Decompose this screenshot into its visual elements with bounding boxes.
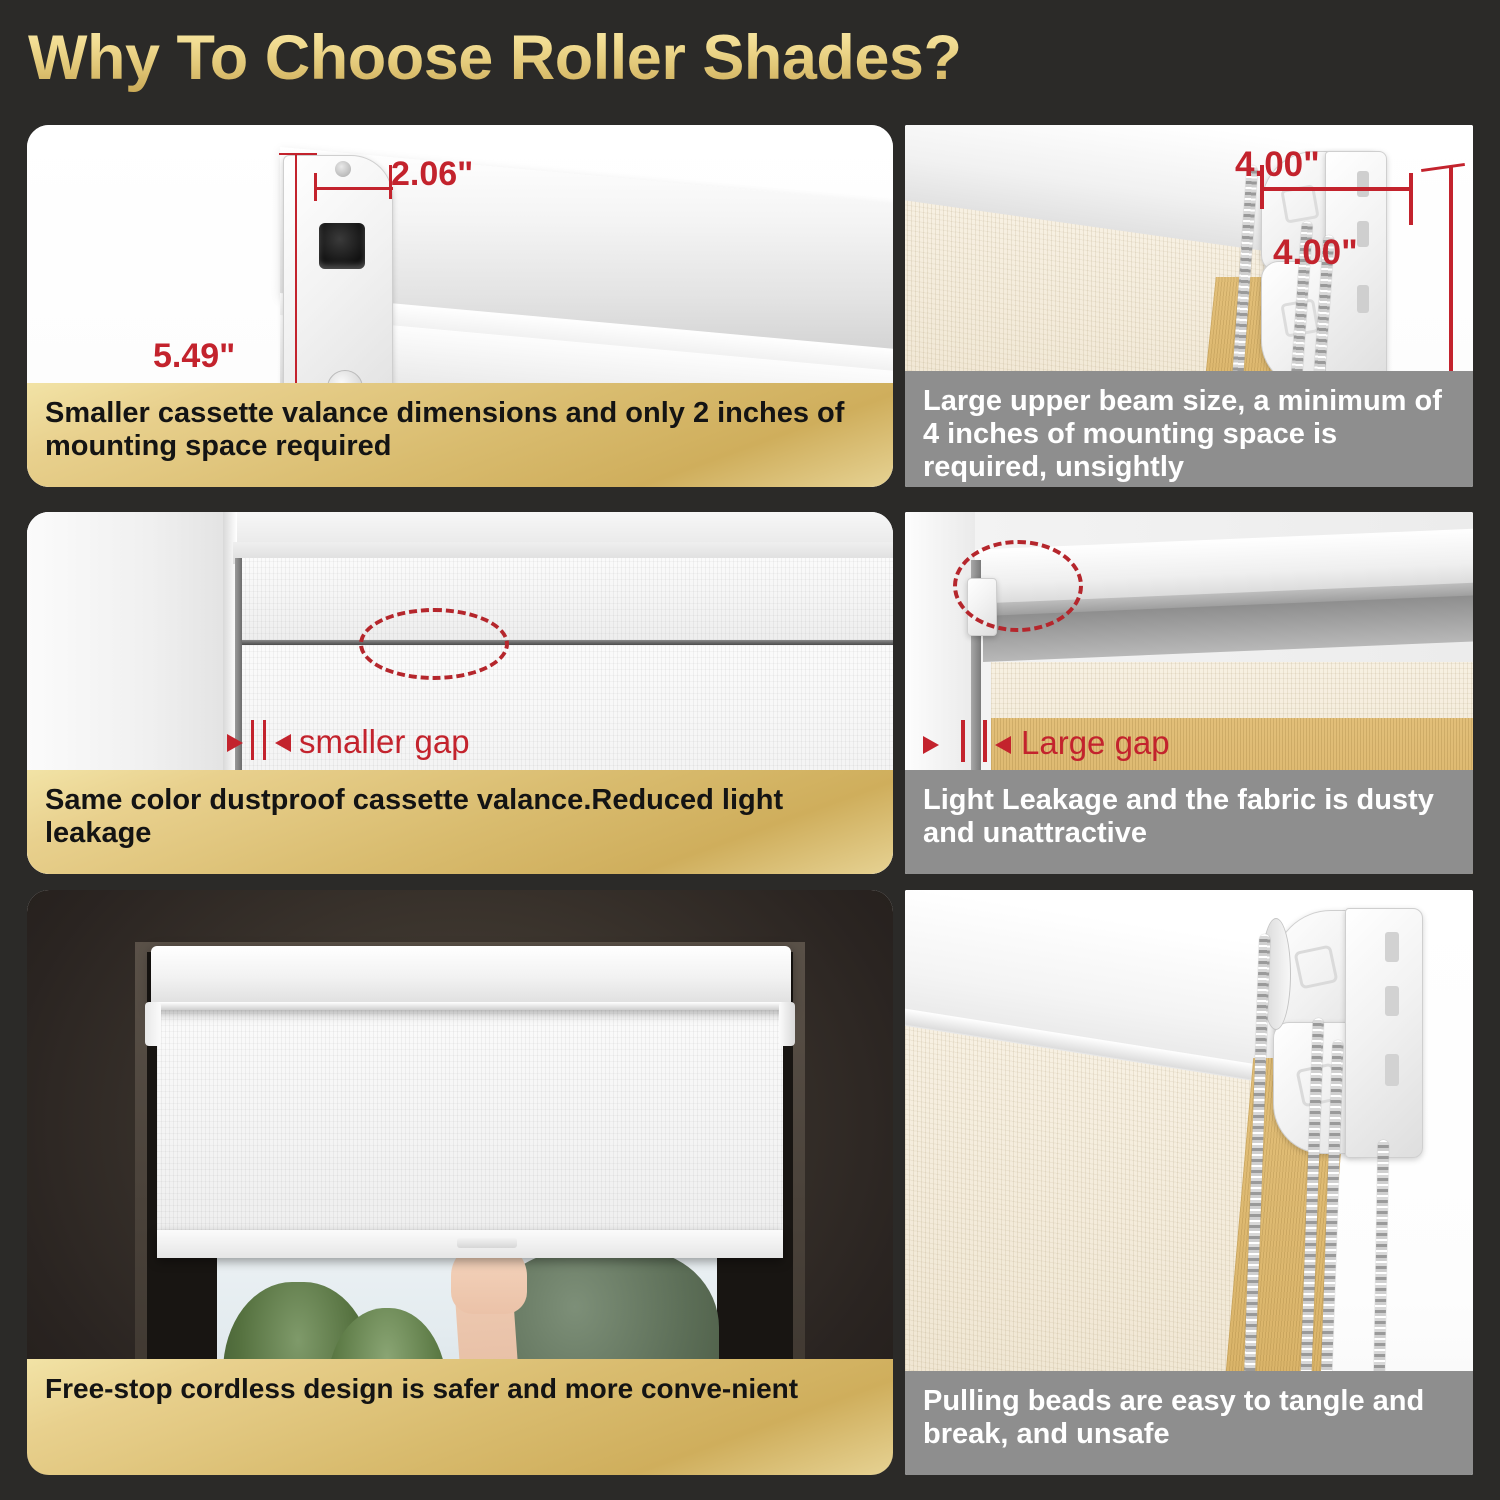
caption-smaller-cassette-valance: Smaller cassette valance dimensions and …	[27, 383, 893, 487]
caption-free-stop-cordless: Free-stop cordless design is safer and m…	[27, 1359, 893, 1475]
large-gap-label: Large gap	[1021, 726, 1170, 759]
bracket-notch-2-icon	[1357, 221, 1369, 247]
bracket-mount-plate	[1345, 908, 1423, 1158]
bracket-notch-1-icon	[1385, 932, 1399, 962]
caption-dustproof-cassette-valance: Same color dustproof cassette valance.Re…	[27, 770, 893, 874]
gap-tick-a	[961, 720, 965, 762]
page-title: Why To Choose Roller Shades?	[28, 22, 1068, 94]
smaller-gap-label: smaller gap	[299, 725, 470, 758]
valance-left-cap	[145, 1002, 161, 1046]
beam-height-label: 4.00"	[1273, 235, 1358, 270]
beam-width-label: 4.00"	[1235, 147, 1320, 182]
valance-right-cap	[779, 1002, 795, 1046]
gap-highlight-ellipse	[359, 608, 509, 680]
bracket-notch-2-icon	[1385, 986, 1399, 1016]
height-dim-tick-top	[279, 153, 317, 155]
gap-arrow-left-icon	[923, 736, 939, 754]
gap-arrow-right-icon	[995, 736, 1011, 754]
bracket-slot-icon	[319, 223, 365, 269]
gap-arrow-right-icon	[275, 734, 291, 752]
width-dimension-label: 2.06"	[391, 157, 473, 191]
bracket-notch-3-icon	[1385, 1054, 1399, 1086]
caption-light-leakage: Light Leakage and the fabric is dusty an…	[905, 770, 1473, 874]
caption-pulling-beads: Pulling beads are easy to tangle and bre…	[905, 1371, 1473, 1475]
panel-free-stop-cordless: Free-stop cordless design is safer and m…	[27, 890, 893, 1475]
gap-arrow-left-icon	[227, 734, 243, 752]
panel-dustproof-cassette-valance: smaller gap Same color dustproof cassett…	[27, 512, 893, 874]
panel-light-leakage: Large gap Light Leakage and the fabric i…	[905, 512, 1473, 874]
width-dimension-line	[315, 187, 393, 190]
height-dimension-label: 5.49"	[153, 339, 235, 373]
bracket-screw-top-icon	[335, 161, 351, 177]
valance-lip	[151, 1002, 791, 1010]
bracket-notch-1-icon	[1357, 171, 1369, 197]
beam-width-tick-right	[1409, 173, 1413, 225]
panel-large-upper-beam: 4.00" 4.00" Large upper beam size, a min…	[905, 125, 1473, 487]
bracket-notch-3-icon	[1357, 285, 1369, 313]
caption-large-upper-beam: Large upper beam size, a minimum of 4 in…	[905, 371, 1473, 487]
width-dim-tick-left	[314, 173, 317, 201]
bottom-rail-grip	[457, 1238, 517, 1248]
beam-width-line	[1261, 187, 1413, 191]
panel-smaller-cassette-valance: 5.49" 2.06" Smaller cassette valance dim…	[27, 125, 893, 487]
gap-tick-b	[263, 720, 266, 760]
gap-highlight-ellipse	[953, 540, 1083, 632]
cassette-valance-head	[151, 946, 791, 1008]
bracket-emblem-top-icon	[1293, 944, 1338, 989]
panel-pulling-beads: Pulling beads are easy to tangle and bre…	[905, 890, 1473, 1475]
shade-fabric-panel	[157, 1006, 783, 1242]
cassette-valance	[241, 558, 893, 640]
gap-tick-a	[251, 720, 254, 760]
gap-tick-b	[983, 720, 987, 762]
beam-height-line	[1449, 167, 1453, 397]
